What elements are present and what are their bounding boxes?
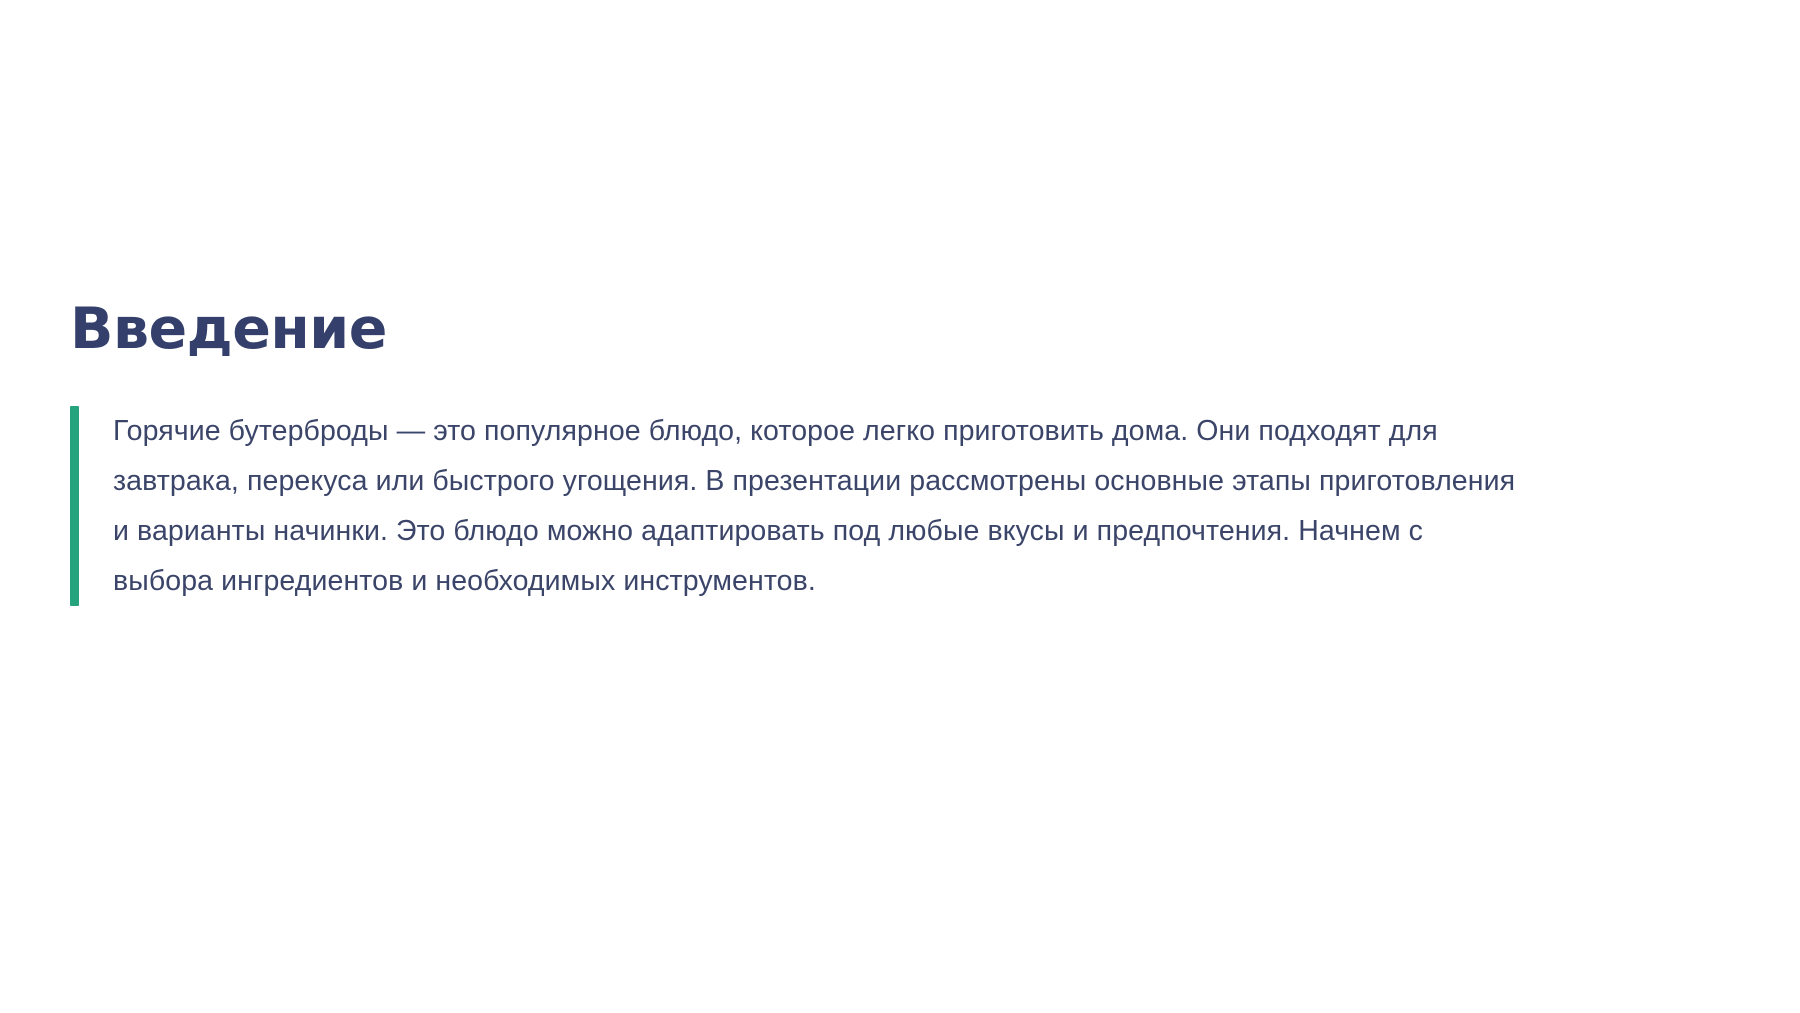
page-title: Введение bbox=[70, 300, 1530, 360]
accent-bar bbox=[70, 406, 79, 606]
body-paragraph: Горячие бутерброды — это популярное блюд… bbox=[113, 406, 1525, 606]
body-block: Горячие бутерброды — это популярное блюд… bbox=[70, 406, 1530, 606]
slide-content: Введение Горячие бутерброды — это популя… bbox=[70, 300, 1530, 606]
presentation-slide: Введение Горячие бутерброды — это популя… bbox=[0, 0, 1800, 1013]
